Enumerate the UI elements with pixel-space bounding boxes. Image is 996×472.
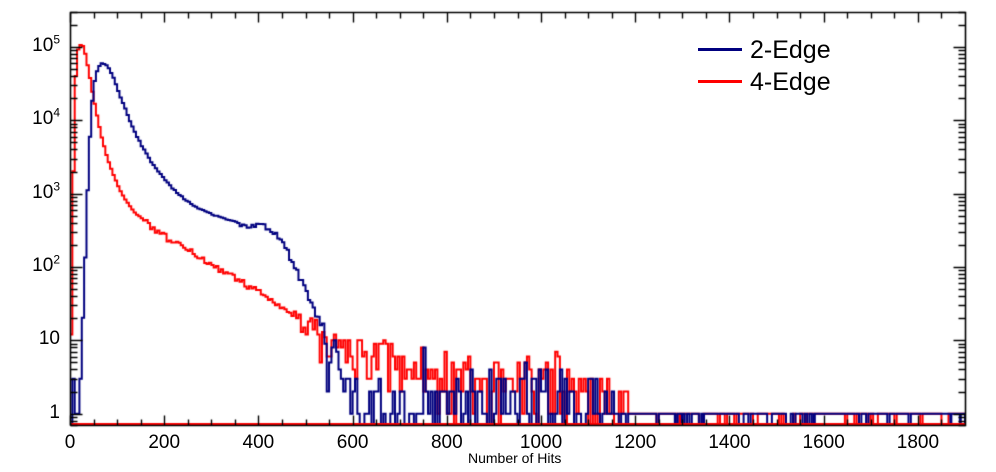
chart-root: 110102103104105 020040060080010001200140… [0,0,996,472]
x-tick-label-0: 0 [30,432,110,454]
x-tick-label-9: 1800 [878,432,958,454]
legend: 2-Edge 4-Edge [698,34,888,98]
x-tick-label-8: 1600 [784,432,864,454]
legend-item-2-edge: 2-Edge [698,34,888,66]
legend-swatch-2-edge [698,48,742,51]
legend-label-4-edge: 4-Edge [750,66,831,98]
y-tick-label-3: 103 [0,182,60,204]
y-tick-label-0: 1 [0,402,60,424]
x-tick-label-1: 200 [124,432,204,454]
y-tick-label-4: 104 [0,108,60,130]
legend-item-4-edge: 4-Edge [698,66,888,98]
y-tick-label-2: 102 [0,255,60,277]
y-tick-label-1: 10 [0,328,60,350]
x-tick-label-3: 600 [313,432,393,454]
x-tick-label-7: 1400 [689,432,769,454]
legend-swatch-4-edge [698,80,742,83]
y-tick-label-5: 105 [0,35,60,57]
x-tick-label-6: 1200 [595,432,675,454]
x-axis-title: Number of Hits [468,450,561,466]
legend-label-2-edge: 2-Edge [750,34,831,66]
x-tick-label-2: 400 [218,432,298,454]
